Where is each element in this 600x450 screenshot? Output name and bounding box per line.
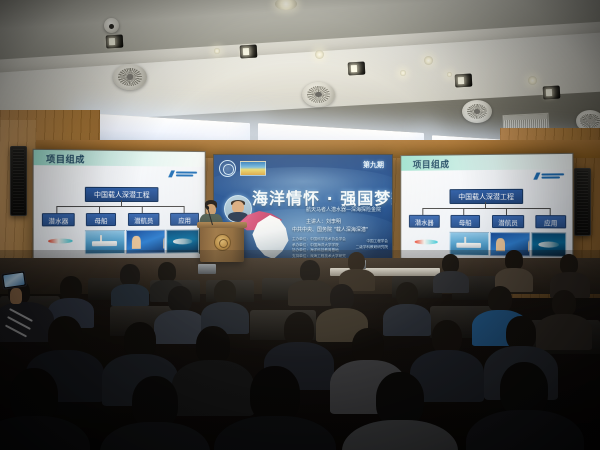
tree-branch: [463, 208, 464, 215]
head: [48, 316, 82, 354]
tree-branch: [550, 208, 551, 215]
organization-logo: [168, 170, 197, 177]
head: [120, 264, 140, 286]
recessed-spotlight-housing: [543, 86, 561, 100]
root-node-label: 中国载人深潜工程: [94, 189, 150, 199]
head: [560, 254, 578, 274]
shoulders: [536, 314, 592, 350]
logo-wordmark: [176, 171, 197, 176]
node-box-application: 应用: [170, 213, 199, 226]
air-vent: [302, 82, 335, 107]
head: [214, 280, 236, 304]
node-box-application: 应用: [535, 215, 566, 228]
lecture-hall-photo: 项目组成 中国载人深潜工程 潜水器 母船 潜航员 应用: [0, 0, 600, 450]
smartphone[interactable]: [1, 270, 27, 289]
shoulders: [383, 304, 431, 336]
thumbnail-submersible: [44, 231, 77, 252]
podium-lectern-top: [197, 222, 247, 228]
head: [352, 328, 384, 364]
root-node-label: 中国载人深潜工程: [458, 191, 514, 201]
head: [506, 316, 536, 350]
air-vent: [113, 64, 147, 90]
host-line-secondary: 中共中央、国务院 "载人深海深潜": [292, 226, 368, 233]
right-wall-speaker: [574, 168, 591, 236]
laptop: [198, 264, 216, 274]
head: [124, 322, 156, 358]
recessed-spotlight-housing: [348, 62, 366, 76]
organizer-credits-right: 中国工程学会 二级学科教研研究院: [356, 239, 388, 250]
tree-branch: [184, 206, 185, 213]
tree-branch: [99, 206, 100, 213]
tree-branch: [422, 208, 423, 215]
node-label: 应用: [178, 214, 191, 224]
slide-title: 项目组成: [413, 157, 450, 170]
head: [552, 290, 576, 316]
logo-mark-icon: [168, 170, 175, 177]
node-label: 母船: [94, 215, 107, 225]
tree-connector-horizontal: [422, 208, 549, 209]
head: [196, 326, 230, 364]
head: [505, 250, 523, 270]
head: [300, 260, 320, 282]
shoulders: [433, 271, 469, 293]
logo-mark-icon: [533, 173, 540, 180]
series-label: 第九期: [363, 160, 384, 170]
root-node-box: 中国载人深潜工程: [450, 189, 524, 204]
head: [168, 286, 192, 312]
credit-line: 主办单位：中国科学技术协会学会: [292, 237, 346, 243]
air-vent: [462, 100, 492, 123]
recessed-spotlight-housing: [240, 45, 258, 59]
node-box-mothership: 母船: [450, 215, 480, 228]
head: [500, 362, 548, 416]
head: [396, 282, 418, 306]
tree-connector-horizontal: [56, 206, 183, 207]
ocean-expedition-logo: [240, 161, 266, 176]
head: [10, 368, 58, 422]
recessed-spotlight: [400, 70, 406, 76]
node-box-mothership: 母船: [86, 213, 116, 226]
node-box-submersible: 潜水器: [409, 215, 440, 228]
head: [330, 284, 354, 310]
head: [250, 366, 300, 422]
shoulders: [0, 302, 54, 342]
slide-title: 项目组成: [46, 152, 85, 166]
head: [488, 286, 512, 312]
host-line-primary: 主讲人：刘李明: [306, 218, 341, 225]
node-label: 潜水器: [48, 215, 68, 225]
hand: [10, 288, 22, 304]
portrait-face: [232, 201, 244, 212]
dome-security-camera: [104, 18, 119, 33]
organization-logo: [533, 172, 564, 179]
institute-seal-logo: [219, 160, 236, 177]
event-subtitle: 航天马者人潜水器—深海探险金院: [306, 206, 381, 213]
recessed-spotlight: [528, 76, 537, 85]
head: [284, 312, 314, 346]
recessed-spotlight-housing: [455, 74, 473, 88]
node-label: 潜航员: [134, 214, 153, 224]
recessed-spotlight: [447, 72, 452, 77]
seated-audience: [0, 250, 600, 450]
tree-branch: [56, 206, 57, 213]
node-box-pilot: 潜航员: [128, 213, 159, 226]
node-label: 潜水器: [415, 216, 434, 226]
left-wall-speaker: [10, 146, 27, 216]
recessed-spotlight-housing: [106, 35, 124, 49]
recessed-spotlight: [315, 50, 324, 59]
node-label: 潜航员: [498, 217, 518, 227]
head: [158, 262, 176, 282]
recessed-spotlight: [424, 56, 433, 65]
left-projection-screen[interactable]: 项目组成 中国载人深潜工程 潜水器 母船 潜航员 应用: [33, 149, 206, 261]
shoulders: [172, 360, 254, 416]
shoulders: [111, 284, 149, 306]
right-projection-screen[interactable]: 项目组成 中国载人深潜工程 潜水器 母船 潜航员 应用: [400, 153, 573, 261]
shoulders: [288, 280, 332, 306]
node-label: 母船: [459, 216, 472, 226]
node-label: 应用: [544, 217, 557, 227]
head: [376, 372, 424, 426]
logo-wordmark: [541, 173, 564, 178]
tree-branch: [506, 208, 507, 215]
tree-branch: [142, 206, 143, 213]
head: [432, 320, 462, 354]
node-box-pilot: 潜航员: [492, 215, 524, 228]
node-box-submersible: 潜水器: [42, 213, 75, 226]
head: [132, 376, 178, 428]
head: [60, 276, 82, 300]
recessed-spotlight: [214, 48, 220, 54]
national-emblem: [214, 234, 231, 251]
